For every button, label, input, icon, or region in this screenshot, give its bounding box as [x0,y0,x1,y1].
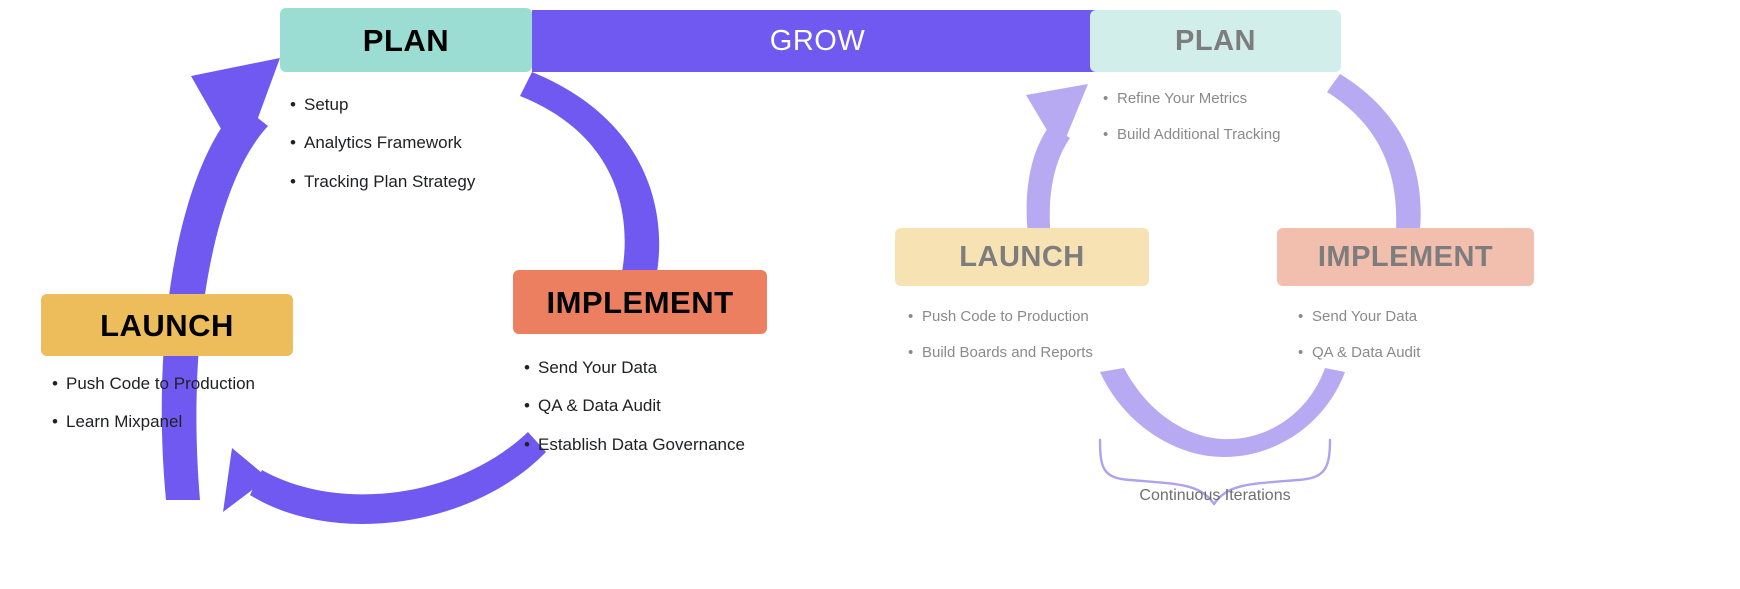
bullet-label: Send Your Data [1312,308,1417,327]
bullet-label: Analytics Framework [304,132,462,153]
bullet-icon: • [290,132,304,153]
stage-box-launch-2[interactable]: LAUNCH [895,228,1149,286]
bullet-icon: • [52,373,66,394]
bullet-label: Learn Mixpanel [66,411,182,432]
stage-bullets-plan-2: • Refine Your Metrics • Build Additional… [1103,90,1403,162]
bullet-icon: • [1298,308,1312,327]
list-item: • Establish Data Governance [524,434,844,455]
bullet-label: Send Your Data [538,357,657,378]
bullet-icon: • [290,94,304,115]
bullet-label: Refine Your Metrics [1117,90,1247,109]
list-item: • QA & Data Audit [524,395,844,416]
bullet-icon: • [524,434,538,455]
list-item: • Learn Mixpanel [52,411,352,432]
stage-box-implement-1[interactable]: IMPLEMENT [513,270,767,334]
arrowhead-launch-to-plan [191,58,280,164]
arrowhead-launch-to-plan-faded [1026,84,1088,152]
stage-title-implement-1: IMPLEMENT [546,287,733,318]
list-item: • Refine Your Metrics [1103,90,1403,109]
bullet-label: QA & Data Audit [538,395,661,416]
bullet-icon: • [908,344,922,363]
stage-title-launch-2: LAUNCH [959,243,1084,272]
stage-title-implement-2: IMPLEMENT [1318,243,1493,272]
bullet-label: Establish Data Governance [538,434,745,455]
bullet-icon: • [908,308,922,327]
bullet-label: Build Additional Tracking [1117,126,1280,145]
bullet-label: Push Code to Production [922,308,1089,327]
list-item: • Send Your Data [1298,308,1598,327]
list-item: • Analytics Framework [290,132,590,153]
grow-banner-label: GROW [532,10,1103,72]
stage-title-plan-2: PLAN [1175,27,1256,56]
bullet-icon: • [1103,90,1117,109]
stage-bullets-implement-1: • Send Your Data • QA & Data Audit • Est… [524,357,844,472]
stage-box-launch-1[interactable]: LAUNCH [41,294,293,356]
bullet-label: Tracking Plan Strategy [304,171,475,192]
stage-bullets-implement-2: • Send Your Data • QA & Data Audit [1298,308,1598,380]
bullet-label: Build Boards and Reports [922,344,1093,363]
bullet-label: Push Code to Production [66,373,255,394]
stage-bullets-launch-2: • Push Code to Production • Build Boards… [908,308,1208,380]
list-item: • Setup [290,94,590,115]
list-item: • Send Your Data [524,357,844,378]
stage-box-plan-2[interactable]: PLAN [1090,10,1341,72]
arrowhead-implement-to-launch [223,448,268,512]
stage-title-launch-1: LAUNCH [100,310,234,341]
stage-bullets-plan-1: • Setup • Analytics Framework • Tracking… [290,94,590,209]
bullet-icon: • [1298,344,1312,363]
list-item: • Tracking Plan Strategy [290,171,590,192]
stage-bullets-launch-1: • Push Code to Production • Learn Mixpan… [52,373,352,450]
bullet-icon: • [290,171,304,192]
bullet-label: QA & Data Audit [1312,344,1420,363]
stage-title-plan-1: PLAN [363,25,449,56]
lifecycle-diagram: GROW PLAN • Setup • Analytics Framework … [0,0,1740,589]
list-item: • Push Code to Production [908,308,1208,327]
bullet-icon: • [1103,126,1117,145]
stage-box-plan-1[interactable]: PLAN [280,8,532,72]
list-item: • QA & Data Audit [1298,344,1598,363]
bullet-label: Setup [304,94,348,115]
stage-box-implement-2[interactable]: IMPLEMENT [1277,228,1534,286]
list-item: • Build Boards and Reports [908,344,1208,363]
list-item: • Build Additional Tracking [1103,126,1403,145]
bullet-icon: • [524,357,538,378]
list-item: • Push Code to Production [52,373,352,394]
arrow-implement-to-launch-faded [1100,368,1345,457]
bullet-icon: • [524,395,538,416]
bullet-icon: • [52,411,66,432]
continuous-iterations-label: Continuous Iterations [1095,487,1335,505]
